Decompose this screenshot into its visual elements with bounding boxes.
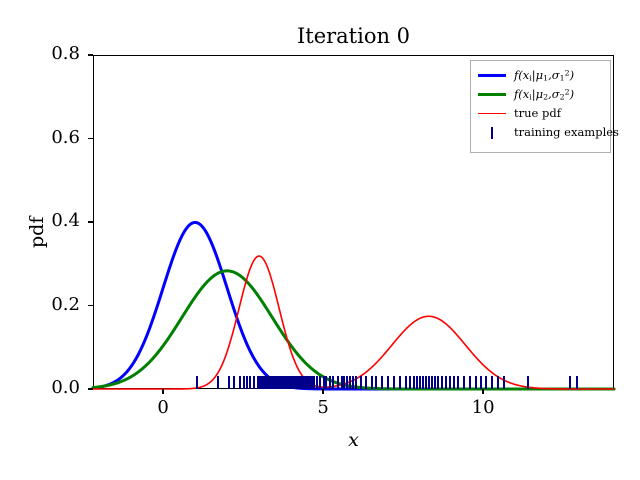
xtick-mark bbox=[322, 389, 323, 394]
legend-label-true-pdf: true pdf bbox=[514, 108, 561, 120]
xtick-mark bbox=[482, 389, 483, 394]
ytick-label: 0.8 bbox=[0, 43, 80, 64]
plot-title: Iteration 0 bbox=[93, 24, 614, 48]
xtick-label: 5 bbox=[283, 397, 363, 418]
legend-swatch-blue-line bbox=[477, 69, 507, 83]
legend-entry-true-pdf: true pdf bbox=[477, 104, 603, 123]
matplotlib-figure: Iteration 0 05100.00.20.40.60.8 x pdf f(… bbox=[0, 0, 640, 480]
legend-swatch-red-line bbox=[477, 107, 507, 121]
legend-label-training-examples: training examples bbox=[514, 127, 619, 139]
ytick-label: 0.2 bbox=[0, 294, 80, 315]
legend-label-component-1-math: (xi|μ1,σ12) bbox=[518, 69, 574, 82]
ytick-mark bbox=[88, 388, 93, 389]
ytick-label: 0.0 bbox=[0, 377, 80, 398]
ytick-mark bbox=[88, 138, 93, 139]
legend-entry-component-2: f(xi|μ2,σ22) bbox=[477, 85, 603, 104]
xtick-mark bbox=[162, 389, 163, 394]
ytick-mark bbox=[88, 221, 93, 222]
legend-swatch-green-line bbox=[477, 88, 507, 102]
legend-entry-training-examples: training examples bbox=[477, 123, 603, 142]
legend-swatch-rug-mark bbox=[477, 126, 507, 140]
xtick-label: 10 bbox=[443, 397, 523, 418]
ytick-mark bbox=[88, 54, 93, 55]
xtick-label: 0 bbox=[123, 397, 203, 418]
legend: f(xi|μ1,σ12) f(xi|μ2,σ22) true pdf train… bbox=[470, 60, 611, 153]
ytick-mark bbox=[88, 305, 93, 306]
legend-label-component-2-math: (xi|μ2,σ22) bbox=[518, 88, 574, 101]
y-axis-label: pdf bbox=[26, 217, 48, 248]
legend-entry-component-1: f(xi|μ1,σ12) bbox=[477, 66, 603, 85]
ytick-label: 0.6 bbox=[0, 127, 80, 148]
x-axis-label: x bbox=[34, 429, 640, 451]
